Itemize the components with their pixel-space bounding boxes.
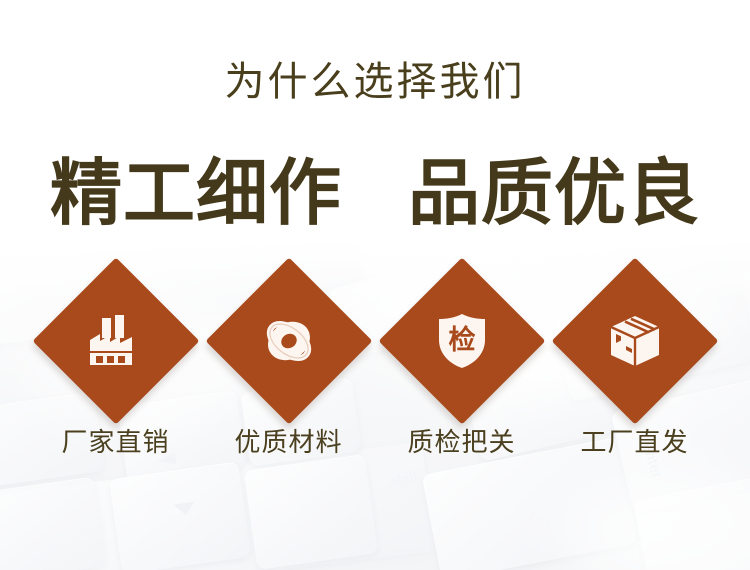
package-box-icon (605, 311, 665, 371)
shield-glyph: 检 (448, 324, 475, 355)
banner-headline: 精工细作 品质优良 (0, 158, 750, 230)
banner-content: 为什么选择我们 精工细作 品质优良 (0, 0, 750, 570)
feature-list: 厂家直销 (33, 282, 717, 497)
headline-part-1: 精工细作 (50, 154, 342, 234)
feature-item-shipping[interactable]: 工厂直发 (552, 282, 717, 497)
feature-diamond (576, 282, 694, 400)
feature-item-inspection[interactable]: 检 质检把关 (379, 282, 544, 497)
feature-item-factory[interactable]: 厂家直销 (33, 282, 198, 497)
feature-item-material[interactable]: 优质材料 (206, 282, 371, 497)
feature-diamond: 检 (403, 282, 521, 400)
feature-label: 质检把关 (379, 429, 544, 455)
feature-diamond (57, 282, 175, 400)
feature-label: 优质材料 (206, 429, 371, 455)
feature-label: 工厂直发 (552, 429, 717, 455)
factory-icon (86, 311, 146, 371)
feature-label: 厂家直销 (33, 429, 198, 455)
headline-part-2: 品质优良 (408, 154, 700, 234)
promo-banner: enter shift 为什么选择我们 精工细作 品质优良 (0, 0, 750, 570)
banner-eyebrow: 为什么选择我们 (0, 62, 750, 102)
feature-diamond (230, 282, 348, 400)
atom-icon (259, 311, 319, 371)
shield-inspection-icon: 检 (432, 311, 492, 371)
